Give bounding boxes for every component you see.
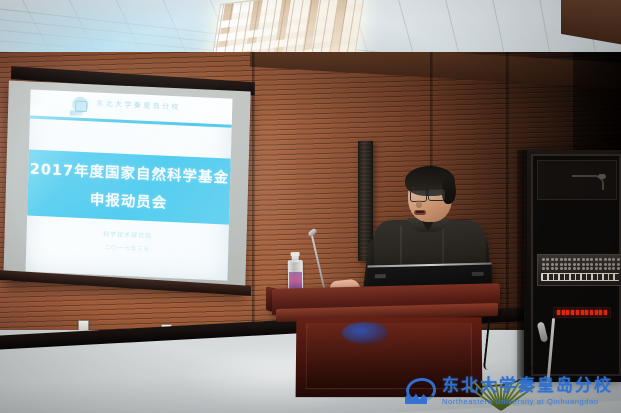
slide-university-name: 东北大学秦皇岛分校 bbox=[96, 99, 181, 113]
mixer-knob-row[interactable] bbox=[540, 257, 620, 271]
watermark-english-name: Northeastern University at Qinhuangdao bbox=[442, 397, 618, 406]
logo-wave-shape bbox=[405, 393, 427, 404]
photo-scene: 东北大学秦皇岛分校 2017年度国家自然科学基金 申报动员会 科学技术研究院 二… bbox=[0, 0, 621, 413]
audio-mixer[interactable] bbox=[537, 254, 621, 286]
eyeglasses-lens-right bbox=[428, 189, 445, 201]
watermark: 东北大学秦皇岛分校 Northeastern University at Qin… bbox=[404, 374, 618, 410]
university-logo-icon bbox=[404, 377, 438, 407]
led-display bbox=[553, 307, 611, 318]
presenter-eyebrow bbox=[429, 186, 442, 188]
rack-mic-head-icon bbox=[598, 174, 606, 179]
university-logo-wave-icon bbox=[70, 110, 83, 116]
podium-emblem-icon bbox=[342, 322, 388, 344]
presenter-mouth-opening bbox=[416, 211, 424, 213]
eyeglasses-bridge bbox=[425, 193, 429, 194]
watermark-chinese-name: 东北大学秦皇岛分校 bbox=[442, 378, 618, 396]
rack-top-shelf bbox=[537, 160, 617, 200]
presenter-nose bbox=[416, 200, 422, 208]
laptop-badge-icon bbox=[375, 274, 386, 278]
slide-canvas: 东北大学秦皇岛分校 2017年度国家自然科学基金 申报动员会 科学技术研究院 二… bbox=[26, 90, 233, 281]
mixer-fader-strip[interactable] bbox=[541, 273, 619, 281]
presenter-eyebrow bbox=[411, 187, 424, 189]
laptop-badge-icon bbox=[472, 272, 484, 276]
projection-screen: 东北大学秦皇岛分校 2017年度国家自然科学基金 申报动员会 科学技术研究院 二… bbox=[3, 81, 250, 292]
watermark-text-block: 东北大学秦皇岛分校 Northeastern University at Qin… bbox=[442, 378, 618, 406]
